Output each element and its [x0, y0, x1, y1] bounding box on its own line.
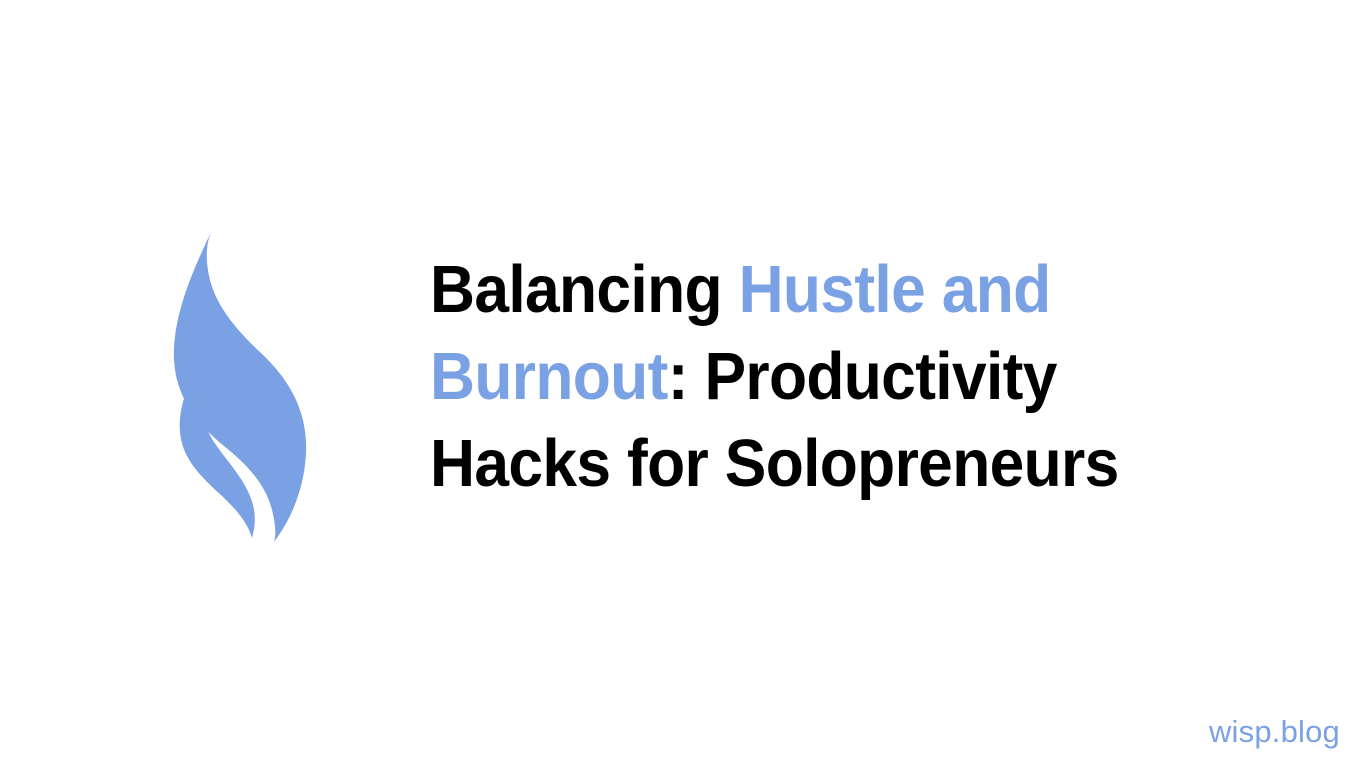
article-title: Balancing Hustle and Burnout: Productivi… — [430, 246, 1230, 507]
wisp-flame-logo-icon — [168, 224, 312, 544]
title-line-2-plain: : Productivity — [668, 339, 1057, 414]
cover-canvas: Balancing Hustle and Burnout: Productivi… — [0, 0, 1366, 768]
title-line-2-accent: Burnout — [430, 339, 668, 414]
title-line-3: Hacks for Solopreneurs — [430, 420, 1174, 507]
footer-brand-label: wisp.blog — [1209, 714, 1340, 750]
title-line-1: Balancing Hustle and — [430, 246, 1174, 333]
title-line-2: Burnout: Productivity — [430, 333, 1174, 420]
title-line-1-plain: Balancing — [430, 252, 739, 327]
title-line-1-accent: Hustle and — [739, 252, 1051, 327]
title-line-3-plain: Hacks for Solopreneurs — [430, 426, 1119, 501]
